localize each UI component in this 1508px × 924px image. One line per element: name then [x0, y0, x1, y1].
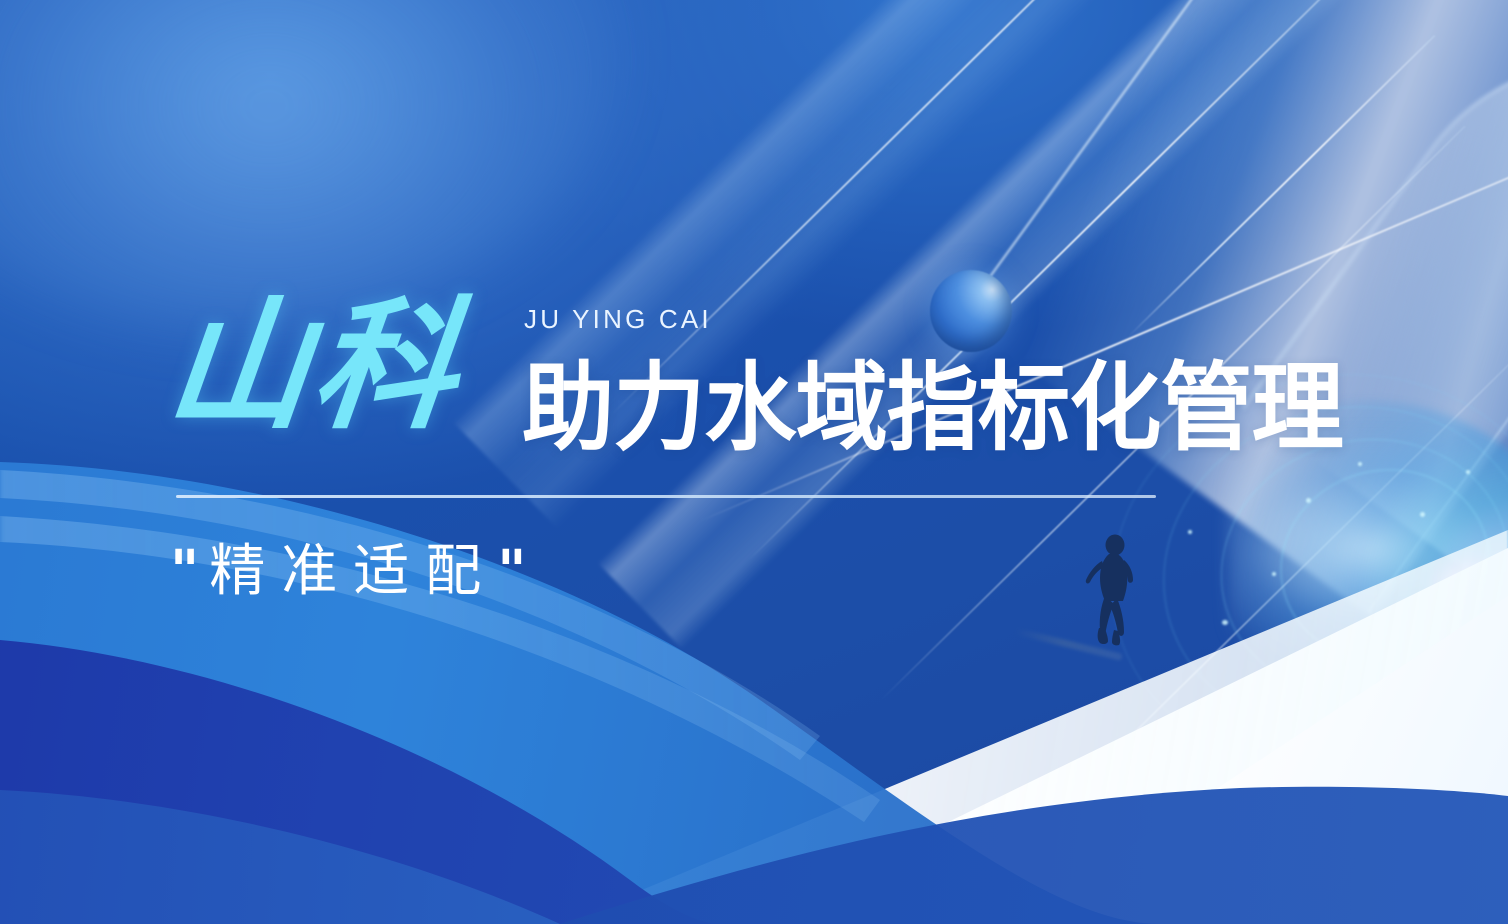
- tagline-text: 精准适配: [209, 539, 497, 604]
- divider: [176, 495, 1156, 498]
- brand-pinyin: JU YING CAI: [524, 306, 712, 332]
- promo-banner: 山科 JU YING CAI 助力水域指标化管理 "精准适配": [0, 0, 1508, 924]
- page-title: 助力水域指标化管理: [522, 360, 1343, 456]
- tagline-quote-open: ": [170, 539, 209, 604]
- brand-logo: 山科: [161, 296, 468, 438]
- tagline-quote-close: ": [497, 539, 536, 604]
- tagline: "精准适配": [170, 540, 536, 604]
- content-layer: 山科 JU YING CAI 助力水域指标化管理 "精准适配": [0, 0, 1508, 924]
